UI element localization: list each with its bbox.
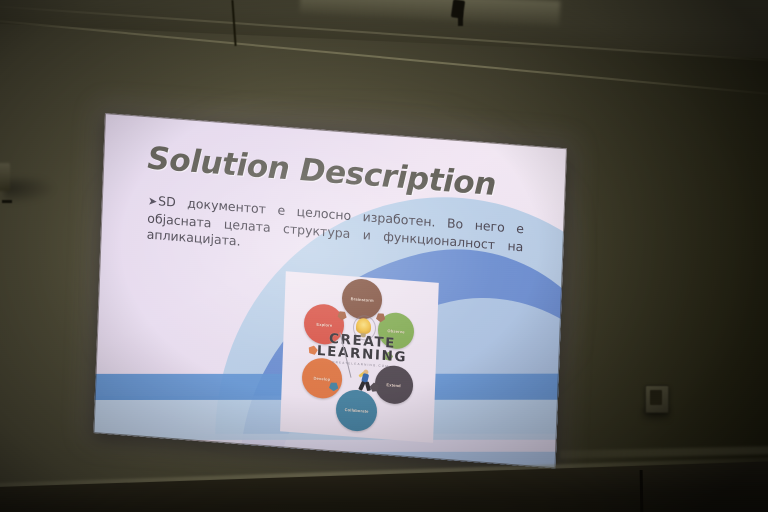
photo-scene: Solution Description ➤SD документот е це… (0, 0, 768, 512)
photo-vignette (0, 0, 768, 512)
